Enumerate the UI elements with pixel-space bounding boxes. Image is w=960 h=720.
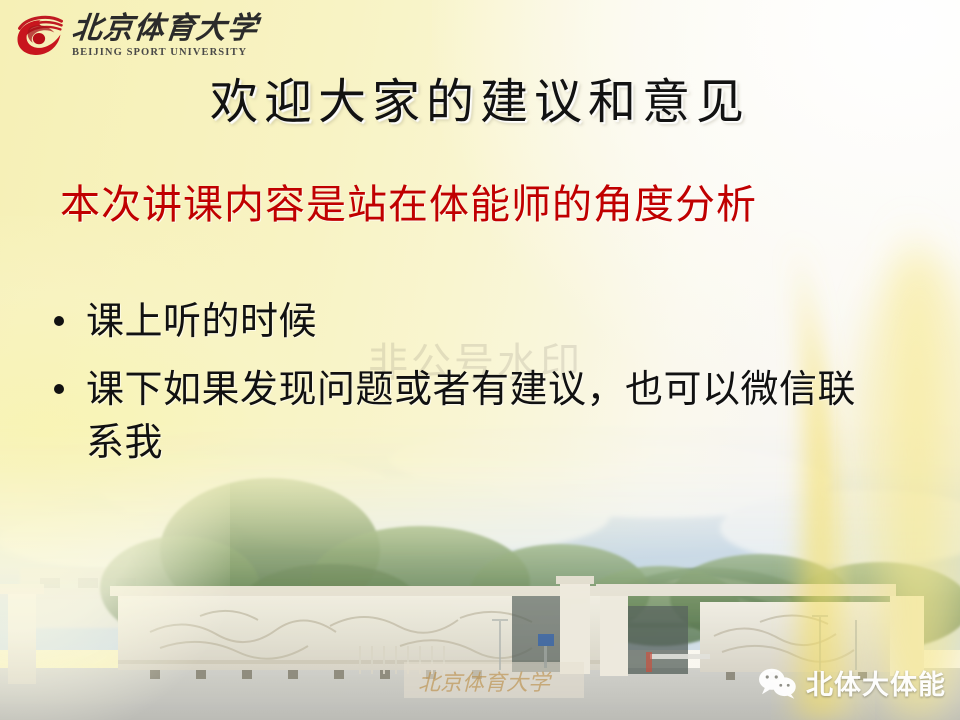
bullet-text: 课上听的时候	[86, 296, 317, 348]
svg-text:北京体育大学: 北京体育大学	[418, 670, 553, 695]
logo-name-en: BEIJING SPORT UNIVERSITY	[72, 48, 258, 59]
wechat-icon	[756, 667, 798, 699]
wechat-account-badge: 北体大体能	[756, 663, 946, 702]
bullet-list: 课上听的时候 课下如果发现问题或者有建议，也可以微信联系我	[54, 296, 894, 485]
red-swirl-emblem-icon	[14, 12, 66, 57]
wechat-account-label: 北体大体能	[806, 663, 946, 702]
bullet-dot-icon	[54, 316, 64, 326]
list-item: 课上听的时候	[54, 296, 894, 348]
bullet-dot-icon	[54, 384, 64, 394]
presentation-slide: 北京体育大学	[0, 0, 960, 720]
logo-name-cn: 北京体育大学	[70, 14, 259, 44]
slide-subtitle: 本次讲课内容是站在体能师的角度分析	[60, 172, 757, 230]
list-item: 课下如果发现问题或者有建议，也可以微信联系我	[54, 364, 894, 469]
university-logo: 北京体育大学 BEIJING SPORT UNIVERSITY	[14, 12, 258, 59]
bullet-text: 课下如果发现问题或者有建议，也可以微信联系我	[86, 364, 894, 469]
slide-title: 欢迎大家的建议和意见	[0, 62, 960, 132]
